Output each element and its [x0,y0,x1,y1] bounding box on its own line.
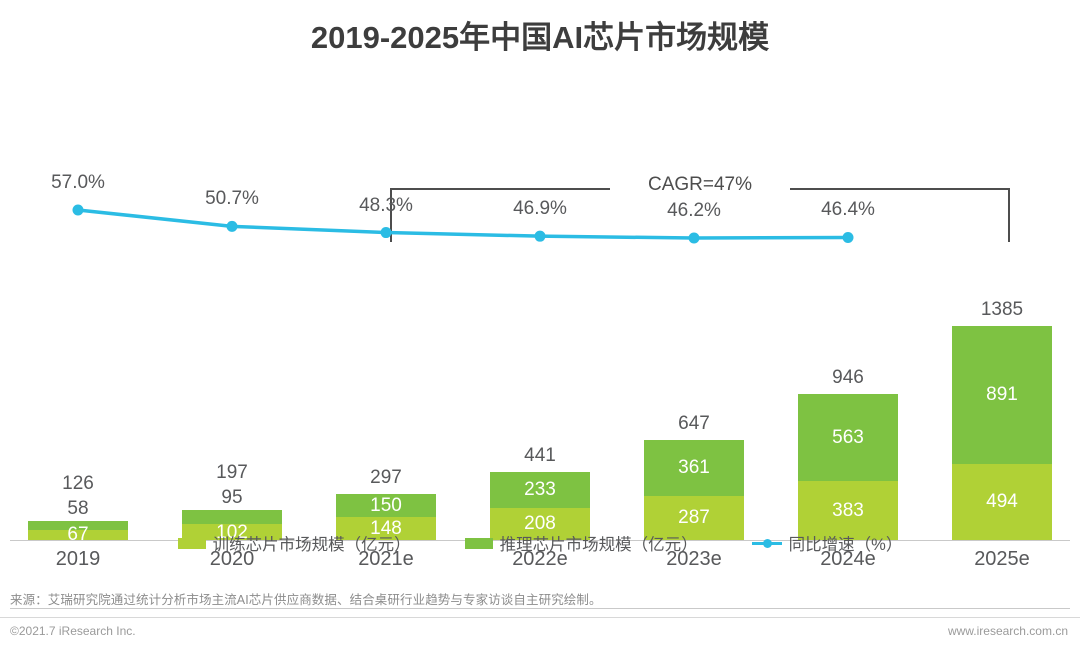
inference-segment-label: 891 [986,385,1018,404]
source-underline [10,608,1070,609]
footer: ©2021.7 iResearch Inc. www.iresearch.com… [0,624,1080,648]
inference-segment-label: 563 [832,428,864,447]
legend-item[interactable]: 训练芯片市场规模（亿元） [178,531,411,555]
bar-column[interactable]: 8914941385 [925,70,1079,541]
plot-area: CAGR=47% 5867126951021971501482972332084… [0,70,1080,475]
bar-column[interactable]: 5867126 [1,70,155,541]
stacked-bar[interactable]: 891494 [952,326,1052,540]
bar-total-label: 297 [336,467,436,489]
chart-legend: 训练芯片市场规模（亿元）推理芯片市场规模（亿元）同比增速（%） [0,528,1080,558]
bar-column[interactable]: 95102197 [155,70,309,541]
legend-item[interactable]: 推理芯片市场规模（亿元） [465,531,698,555]
inference-segment-label: 95 [221,488,242,507]
source-note: 来源：艾瑞研究院通过统计分析市场主流AI芯片供应商数据、结合桌研行业趋势与专家访… [10,589,602,608]
copyright-text: ©2021.7 iResearch Inc. [10,624,136,638]
stacked-bar[interactable]: 563383 [798,394,898,540]
stacked-bar[interactable]: 361287 [644,440,744,540]
inference-segment[interactable]: 563 [798,394,898,481]
legend-line-icon [752,538,782,549]
inference-segment-label: 361 [678,458,710,477]
bar-column[interactable]: 233208441 [463,70,617,541]
legend-label: 同比增速（%） [789,531,903,555]
training-segment-label: 494 [986,492,1018,511]
inference-segment-label: 58 [67,499,88,518]
footer-divider [0,617,1080,618]
bar-total-label: 1385 [952,299,1052,321]
inference-segment-label: 150 [370,496,402,515]
legend-color-swatch [178,538,206,549]
bar-columns: 5867126951021971501482972332084413612876… [0,70,1080,541]
inference-segment-label: 233 [524,480,556,499]
legend-label: 训练芯片市场规模（亿元） [213,531,411,555]
bar-total-label: 126 [28,473,128,495]
inference-segment[interactable]: 150 [336,494,436,517]
legend-item[interactable]: 同比增速（%） [752,531,903,555]
inference-segment[interactable]: 891 [952,326,1052,464]
training-segment-label: 383 [832,501,864,520]
chart-container: 2019-2025年中国AI芯片市场规模 CAGR=47% 5867126951… [0,0,1080,651]
bar-total-label: 197 [182,462,282,484]
bar-total-label: 946 [798,367,898,389]
bar-column[interactable]: 361287647 [617,70,771,541]
bar-column[interactable]: 150148297 [309,70,463,541]
legend-color-swatch [465,538,493,549]
inference-segment[interactable]: 233 [490,472,590,508]
website-link[interactable]: www.iresearch.com.cn [948,624,1068,638]
inference-segment[interactable]: 361 [644,440,744,496]
legend-label: 推理芯片市场规模（亿元） [500,531,698,555]
bar-total-label: 647 [644,413,744,435]
training-segment-label: 287 [678,508,710,527]
bar-total-label: 441 [490,445,590,467]
chart-title: 2019-2025年中国AI芯片市场规模 [0,12,1080,57]
bar-column[interactable]: 563383946 [771,70,925,541]
